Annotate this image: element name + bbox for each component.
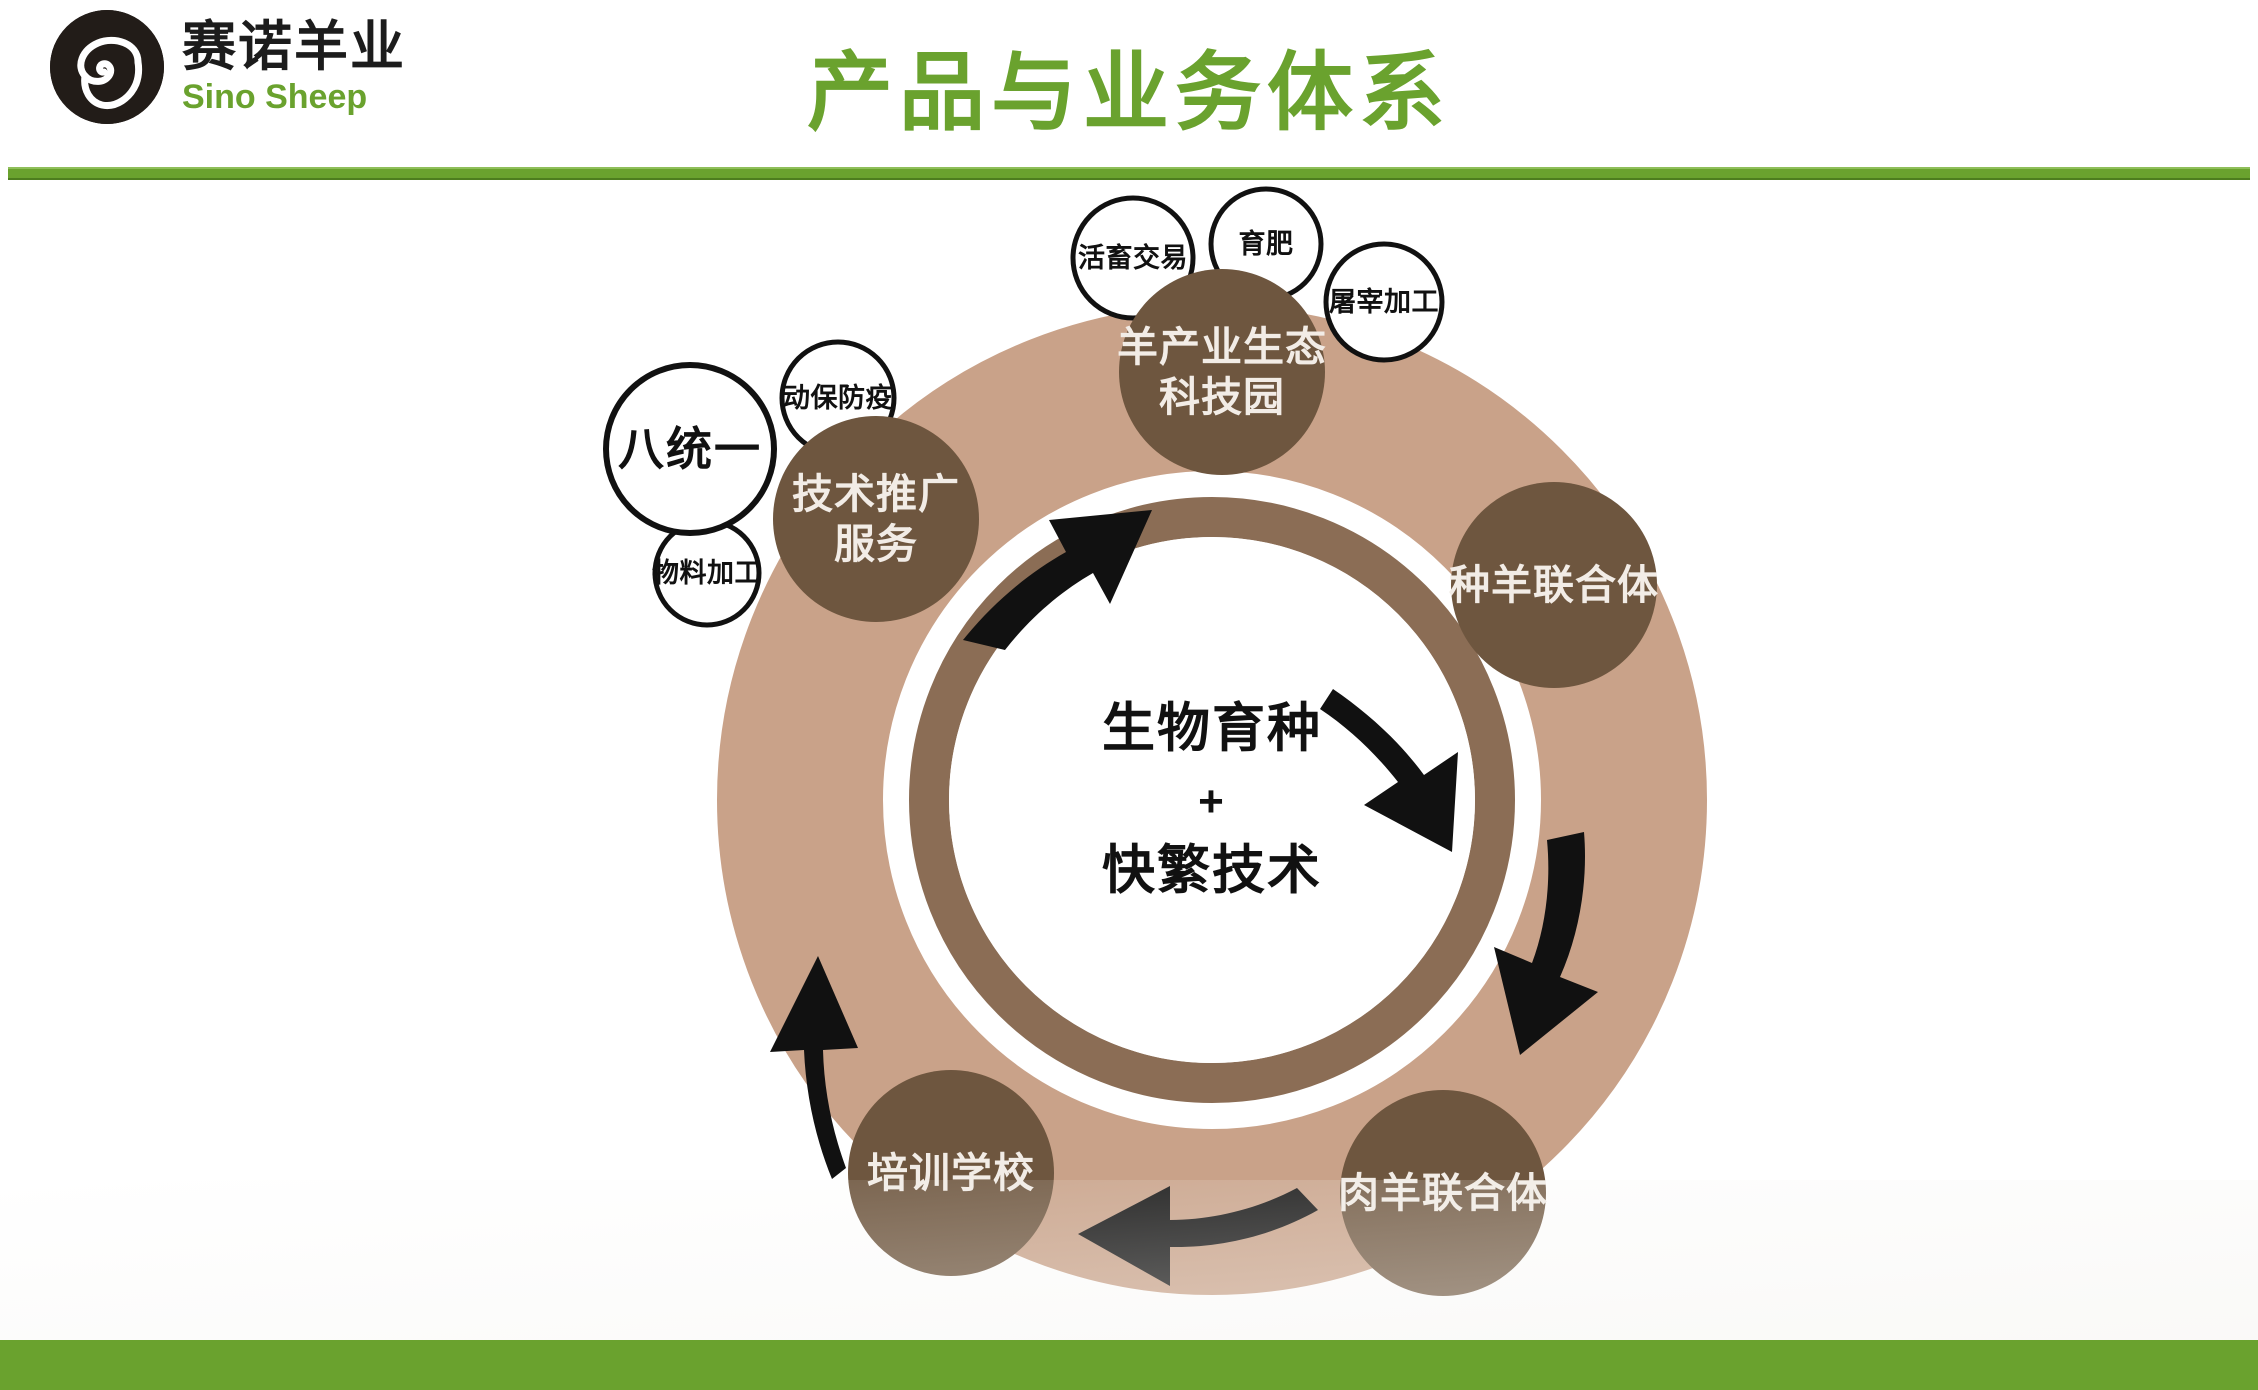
diagram-canvas: [0, 180, 2258, 1340]
satellite-circle-material-processing: [655, 521, 759, 625]
circle-eight-unified: [606, 365, 774, 533]
footer-bar: [0, 1340, 2258, 1390]
node-circle-park: [1119, 269, 1325, 475]
node-circle-tech-service: [773, 416, 979, 622]
header-divider: [8, 167, 2250, 180]
node-circle-meat-union: [1340, 1090, 1546, 1296]
slide-header: 赛诺羊业 Sino Sheep 产品与业务体系: [0, 0, 2258, 180]
node-circle-breeding-union: [1451, 482, 1657, 688]
node-circle-training-school: [848, 1070, 1054, 1276]
satellite-circle-slaughter: [1326, 244, 1442, 360]
page-title: 产品与业务体系: [0, 22, 2258, 147]
product-business-system-diagram: 生物育种 + 快繁技术 羊产业生态 科技园 种羊联合体 肉羊联合体 培训学校 技…: [0, 180, 2258, 1340]
